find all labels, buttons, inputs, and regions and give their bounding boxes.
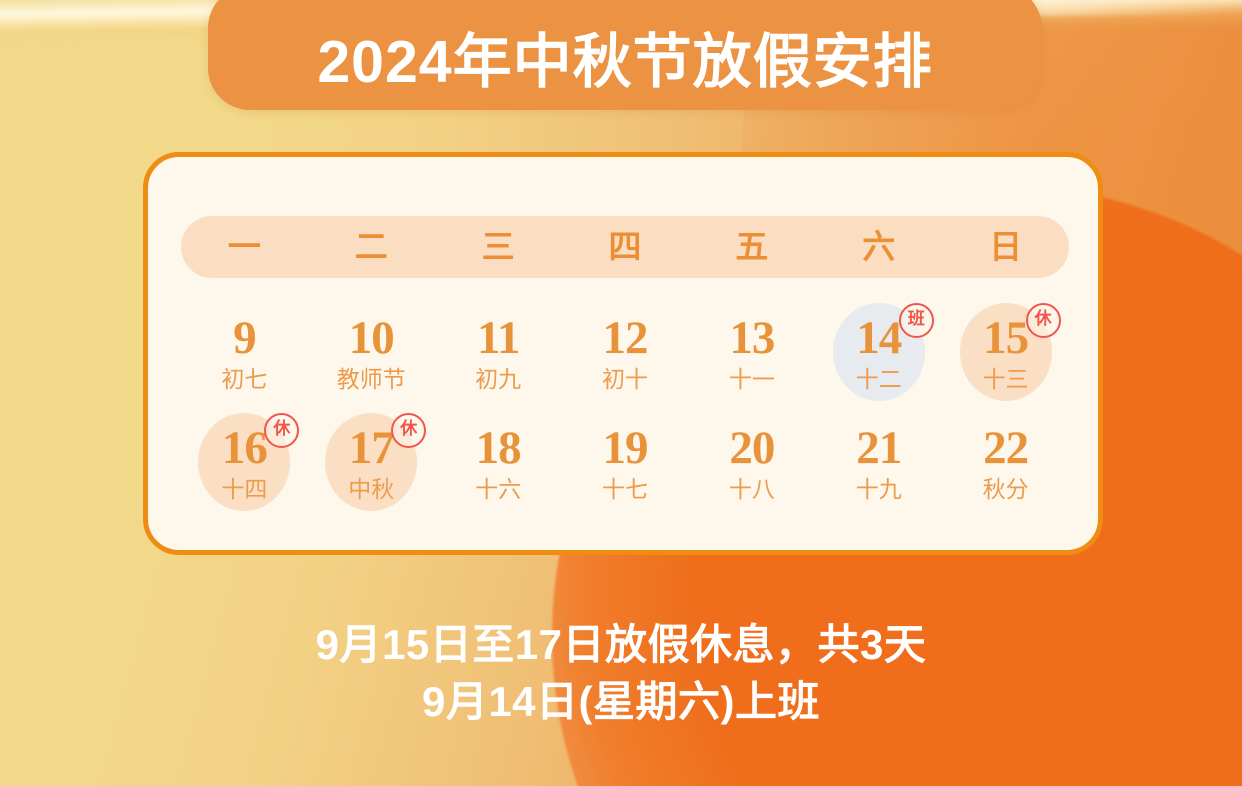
footer-line-holiday: 9月15日至17日放假休息，共3天 — [0, 616, 1242, 673]
day-number: 9 — [233, 313, 256, 363]
weekday-header-4: 四 — [562, 229, 689, 265]
weekday-header-1: 一 — [181, 229, 308, 265]
rest-badge-icon: 休 — [1026, 303, 1061, 338]
footer-line-workday: 9月14日(星期六)上班 — [0, 673, 1242, 730]
day-lunar-label: 十四 — [221, 476, 267, 502]
day-number: 16 — [222, 423, 267, 473]
day-cell-21[interactable]: 21十九 — [815, 407, 942, 517]
day-lunar-label: 十九 — [856, 476, 902, 502]
day-cell-20[interactable]: 20十八 — [688, 407, 815, 517]
day-number: 22 — [983, 423, 1028, 473]
rest-badge-icon: 休 — [264, 413, 299, 448]
day-number: 12 — [603, 313, 648, 363]
day-number: 15 — [983, 313, 1028, 363]
day-number: 13 — [729, 313, 774, 363]
weekday-header-5: 五 — [688, 229, 815, 265]
page-title: 2024年中秋节放假安排 — [208, 28, 1042, 96]
day-lunar-label: 教师节 — [337, 366, 406, 392]
day-cell-17[interactable]: 17中秋休 — [308, 407, 435, 517]
day-lunar-label: 初十 — [602, 366, 648, 392]
day-number: 19 — [603, 423, 648, 473]
day-lunar-label: 十六 — [475, 476, 521, 502]
day-number: 10 — [349, 313, 394, 363]
day-cell-12[interactable]: 12初十 — [562, 297, 689, 407]
day-cell-16[interactable]: 16十四休 — [181, 407, 308, 517]
day-cell-13[interactable]: 13十一 — [688, 297, 815, 407]
day-cell-14[interactable]: 14十二班 — [815, 297, 942, 407]
day-cell-18[interactable]: 18十六 — [435, 407, 562, 517]
day-number: 21 — [856, 423, 901, 473]
day-lunar-label: 十一 — [729, 366, 775, 392]
rest-badge-icon: 休 — [391, 413, 426, 448]
day-lunar-label: 十八 — [729, 476, 775, 502]
day-lunar-label: 十七 — [602, 476, 648, 502]
weekday-header-6: 六 — [815, 229, 942, 265]
day-number: 20 — [729, 423, 774, 473]
day-number: 11 — [477, 313, 519, 363]
day-lunar-label: 初七 — [221, 366, 267, 392]
day-number: 17 — [349, 423, 394, 473]
poster-root: 2024年中秋节放假安排 一二三四五六日 9初七10教师节11初九12初十13十… — [0, 0, 1242, 786]
day-lunar-label: 十三 — [983, 366, 1029, 392]
weekday-header-row: 一二三四五六日 — [181, 216, 1069, 278]
day-cell-9[interactable]: 9初七 — [181, 297, 308, 407]
day-cell-22[interactable]: 22秋分 — [942, 407, 1069, 517]
day-cell-11[interactable]: 11初九 — [435, 297, 562, 407]
day-number: 14 — [856, 313, 901, 363]
work-badge-icon: 班 — [899, 303, 934, 338]
day-cell-19[interactable]: 19十七 — [562, 407, 689, 517]
day-lunar-label: 十二 — [856, 366, 902, 392]
calendar-week-row: 16十四休17中秋休18十六19十七20十八21十九22秋分 — [181, 407, 1069, 517]
footer-notes: 9月15日至17日放假休息，共3天 9月14日(星期六)上班 — [0, 616, 1242, 730]
weekday-header-2: 二 — [308, 229, 435, 265]
weekday-header-7: 日 — [942, 229, 1069, 265]
weekday-header-3: 三 — [435, 229, 562, 265]
calendar-weeks: 9初七10教师节11初九12初十13十一14十二班15十三休16十四休17中秋休… — [181, 297, 1069, 517]
day-lunar-label: 中秋 — [348, 476, 394, 502]
calendar-card: 一二三四五六日 9初七10教师节11初九12初十13十一14十二班15十三休16… — [143, 152, 1103, 555]
calendar-week-row: 9初七10教师节11初九12初十13十一14十二班15十三休 — [181, 297, 1069, 407]
day-number: 18 — [476, 423, 521, 473]
day-cell-10[interactable]: 10教师节 — [308, 297, 435, 407]
day-cell-15[interactable]: 15十三休 — [942, 297, 1069, 407]
day-lunar-label: 初九 — [475, 366, 521, 392]
day-lunar-label: 秋分 — [983, 476, 1029, 502]
